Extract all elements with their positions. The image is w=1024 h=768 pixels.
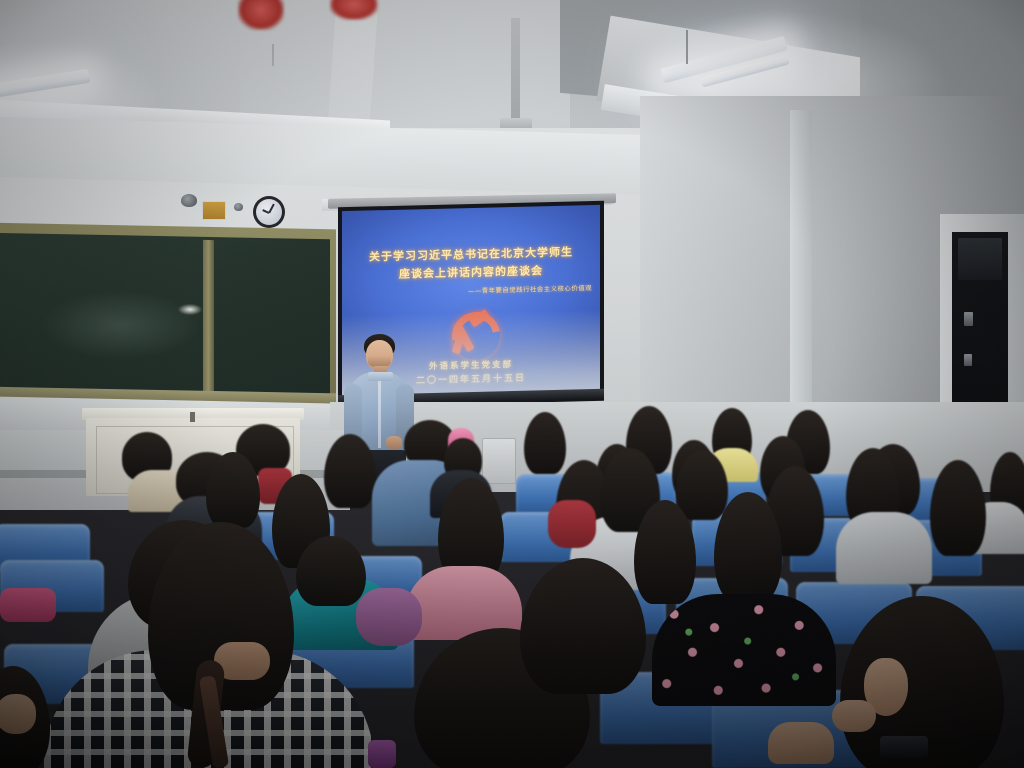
- photo-grain: [0, 0, 1024, 768]
- classroom-photo: 关于学习习近平总书记在北京大学师生 座谈会上讲话内容的座谈会 ——青年要自觉践行…: [0, 0, 1024, 768]
